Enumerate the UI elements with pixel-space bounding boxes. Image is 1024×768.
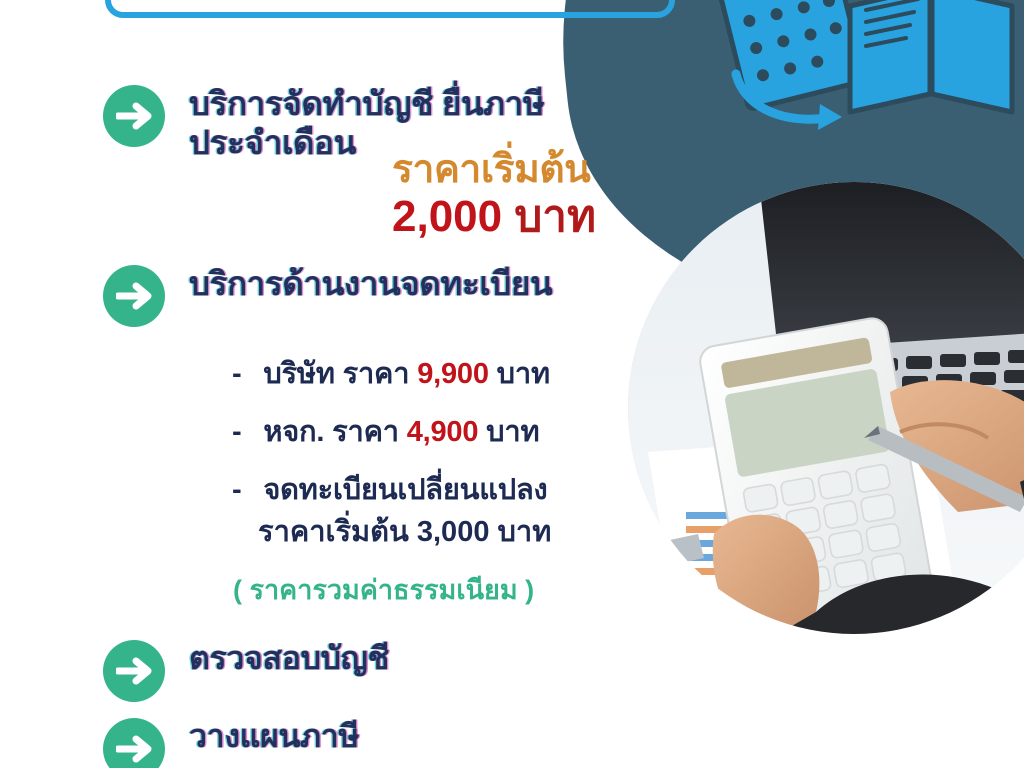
- arrow-right-icon: [103, 265, 165, 327]
- registration-item-start-label: ราคาเริ่มต้น: [258, 516, 409, 548]
- registration-item-change-price: ราคาเริ่มต้น 3,000 บาท: [258, 508, 551, 554]
- registration-item-unit: บาท: [497, 358, 550, 390]
- service-label-line1: วางแผนภาษี: [189, 718, 359, 756]
- service-item-tax-planning[interactable]: วางแผนภาษี: [103, 718, 359, 768]
- registration-item-amount: 4,900: [407, 416, 479, 448]
- arrow-right-icon: [103, 640, 165, 702]
- price-amount-unit: บาท: [514, 192, 596, 241]
- calculator-icon: [713, 0, 866, 110]
- service-item-registration[interactable]: บริการด้านงานจดทะเบียน: [103, 265, 552, 327]
- registration-item-unit: บาท: [498, 516, 552, 548]
- services-list: บริการจัดทำบัญชี ยื่นภาษี ประจำเดือน ราค…: [0, 0, 660, 768]
- registration-item-change: - จดทะเบียนเปลี่ยนแปลง: [232, 466, 548, 512]
- fee-included-note: ( ราคารวมค่าธรรมเนียม ): [233, 568, 534, 611]
- list-dash: -: [232, 474, 241, 506]
- arrow-right-icon: [103, 85, 165, 147]
- promo-poster: บริการจัดทำบัญชี ยื่นภาษี ประจำเดือน ราค…: [0, 0, 1024, 768]
- list-dash: -: [232, 416, 241, 448]
- service-item-audit[interactable]: ตรวจสอบบัญชี: [103, 640, 389, 702]
- registration-item-unit: บาท: [486, 416, 539, 448]
- registration-item-partnership: - หจก. ราคา 4,900 บาท: [232, 408, 539, 454]
- registration-item-label: บริษัท ราคา: [263, 358, 409, 390]
- list-dash: -: [232, 358, 241, 390]
- price-amount-row: 2,000 บาท: [392, 195, 596, 239]
- registration-item-amount: 3,000: [417, 516, 490, 548]
- service-label-line1: บริการจัดทำบัญชี ยื่นภาษี: [189, 85, 544, 124]
- service-label-line1: ตรวจสอบบัญชี: [189, 640, 389, 678]
- price-amount-value: 2,000: [392, 192, 502, 241]
- service-label-line1: บริการด้านงานจดทะเบียน: [189, 265, 552, 304]
- registration-item-company: - บริษัท ราคา 9,900 บาท: [232, 350, 550, 396]
- registration-item-label: หจก. ราคา: [263, 416, 399, 448]
- registration-item-amount: 9,900: [417, 358, 489, 390]
- registration-item-label: จดทะเบียนเปลี่ยนแปลง: [263, 474, 547, 506]
- arrow-right-icon: [103, 718, 165, 768]
- icon-cluster: [700, 0, 1024, 136]
- price-start-label: ราคาเริ่มต้น: [392, 150, 596, 189]
- price-highlight: ราคาเริ่มต้น 2,000 บาท: [392, 150, 596, 239]
- open-book-icon: [850, 0, 1012, 112]
- curved-arrow-head-icon: [818, 104, 842, 130]
